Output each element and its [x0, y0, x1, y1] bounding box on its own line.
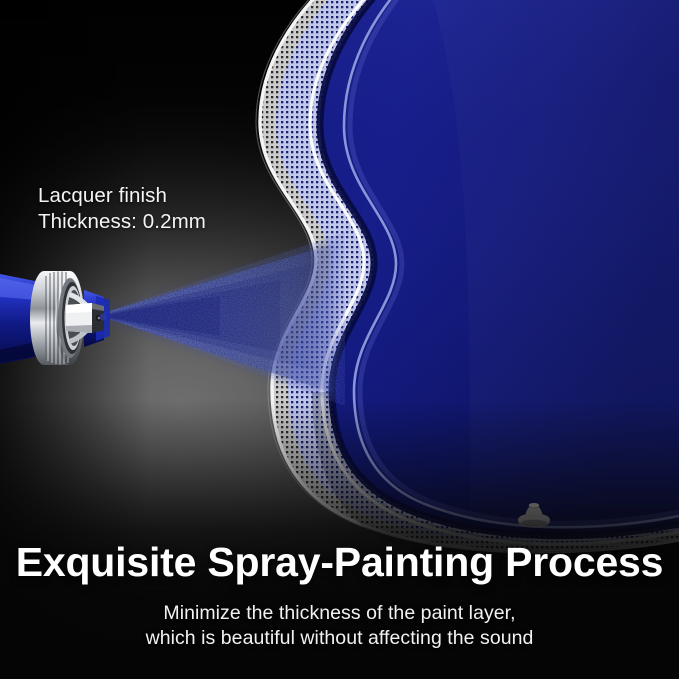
- product-image-canvas: Lacquer finish Thickness: 0.2mm Exquisit…: [0, 0, 679, 679]
- callout-line-1: Lacquer finish: [38, 183, 206, 209]
- spray-mist-overspray: [100, 232, 345, 406]
- callout-line-2: Thickness: 0.2mm: [38, 209, 206, 235]
- spray-nozzle-icon[interactable]: [30, 271, 107, 365]
- subheadline: Minimize the thickness of the paint laye…: [0, 601, 679, 651]
- headline: Exquisite Spray-Painting Process: [0, 541, 679, 584]
- subheadline-line-1: Minimize the thickness of the paint laye…: [0, 601, 679, 626]
- caption-block: Exquisite Spray-Painting Process Minimiz…: [0, 541, 679, 651]
- lacquer-callout-label: Lacquer finish Thickness: 0.2mm: [38, 183, 206, 235]
- subheadline-line-2: which is beautiful without affecting the…: [0, 626, 679, 651]
